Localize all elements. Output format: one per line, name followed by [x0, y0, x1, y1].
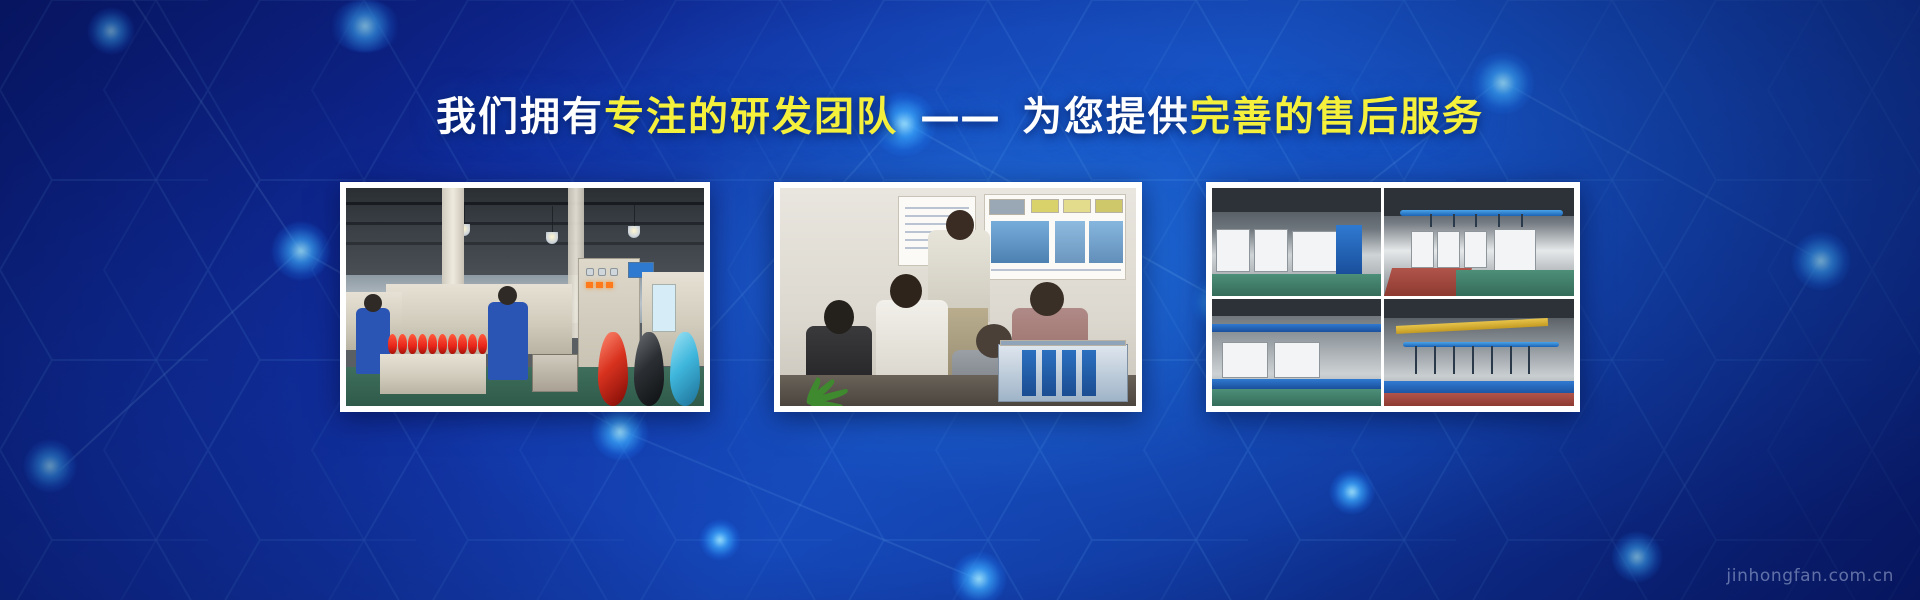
blue-machine-panel — [1336, 225, 1362, 274]
roof-truss — [1384, 299, 1574, 318]
red-product — [448, 334, 457, 354]
red-product — [408, 334, 417, 354]
coating-booth — [1437, 231, 1460, 268]
attendee-head — [1030, 282, 1064, 316]
ceiling-lamp — [546, 232, 558, 244]
lamp-wire — [464, 204, 465, 226]
lamp-wire — [552, 206, 553, 234]
red-product — [468, 334, 477, 354]
promo-banner: 我们拥有专注的研发团队 —— 为您提供完善的售后服务 — [0, 0, 1920, 600]
worker-head — [498, 286, 517, 305]
chart-line — [991, 269, 1121, 271]
coating-booth — [1411, 231, 1434, 268]
composite-tile-top-left — [1212, 188, 1381, 296]
hanger-rod — [1430, 214, 1432, 227]
indicator-light — [606, 282, 613, 288]
headline-segment-1: 我们拥有 — [436, 94, 604, 140]
machine-diagram — [1089, 221, 1123, 263]
roof-truss — [346, 242, 704, 245]
production-line-photo[interactable] — [340, 182, 710, 412]
conveyor-unit — [1274, 342, 1320, 379]
glass-vase-blue — [670, 332, 700, 406]
glass-vase-red — [598, 332, 628, 406]
roof-beam — [1212, 188, 1381, 212]
production-line-image — [346, 188, 704, 406]
chart-line — [905, 207, 969, 209]
red-product — [428, 334, 437, 354]
hanging-line — [1403, 342, 1559, 347]
equipment-cabinet — [1216, 229, 1250, 272]
door-window — [652, 284, 676, 332]
wall-chart — [984, 194, 1126, 280]
chart-thumb — [1063, 199, 1091, 213]
workshop-floor — [1212, 274, 1381, 296]
indicator-light — [586, 282, 593, 288]
red-floor — [1384, 393, 1574, 406]
composite-tile-bottom-right — [1384, 299, 1574, 407]
coating-booth — [1464, 231, 1487, 268]
hanger-rod — [1475, 214, 1477, 227]
indicator-lights — [586, 282, 613, 288]
conveyor-unit — [1222, 342, 1268, 379]
workshop-composite-photo[interactable] — [1206, 182, 1580, 412]
control-buttons — [586, 268, 618, 276]
workshop-composite-image — [1212, 188, 1574, 406]
machine-model-blue — [1022, 350, 1036, 396]
chart-thumb — [989, 199, 1025, 215]
glass-vase-overlay — [598, 332, 700, 406]
attendee-head — [824, 300, 854, 334]
work-bench — [380, 354, 486, 394]
hanger-hook — [1472, 346, 1474, 374]
page-title: 我们拥有专注的研发团队 —— 为您提供完善的售后服务 — [0, 84, 1920, 142]
hanger-hook — [1453, 346, 1455, 374]
machine-model-blue — [1082, 350, 1096, 396]
chart-thumb — [1031, 199, 1059, 213]
equipment-cabinet — [1254, 229, 1288, 272]
machine-diagram — [1055, 221, 1085, 263]
roof-truss — [346, 202, 704, 205]
machine-top-rail — [1000, 340, 1126, 346]
hanger-hook — [1510, 346, 1512, 374]
crane-beam — [1396, 318, 1548, 334]
red-product — [458, 334, 467, 354]
hanger-hook — [1528, 346, 1530, 374]
presenter-head — [946, 210, 974, 240]
green-floor — [1456, 270, 1574, 296]
red-product — [418, 334, 427, 354]
composite-tile-bottom-left — [1212, 299, 1381, 407]
red-product — [398, 334, 407, 354]
hanger-hook — [1415, 346, 1417, 374]
rnd-meeting-image — [780, 188, 1136, 406]
red-product — [388, 334, 397, 354]
worker-figure — [488, 302, 528, 380]
conveyor-rail — [1212, 324, 1381, 332]
headline-segment-2: 专注的研发团队 — [604, 94, 898, 140]
composite-tile-top-right — [1384, 188, 1574, 296]
hanger-rod — [1498, 214, 1500, 227]
chart-thumb — [1095, 199, 1123, 213]
glass-vase-black — [634, 332, 664, 406]
hanger-hook — [1491, 346, 1493, 374]
potted-plant — [784, 358, 854, 406]
blue-frame — [1212, 379, 1381, 389]
red-product — [438, 334, 447, 354]
headline-segment-4: 完善的售后服务 — [1190, 94, 1484, 140]
site-watermark: jinhongfan.com.cn — [1726, 566, 1894, 586]
photo-panel-row — [0, 182, 1920, 412]
roof-truss — [346, 222, 704, 225]
red-product-row — [388, 334, 487, 354]
roof-beam — [1212, 299, 1381, 316]
control-button — [598, 268, 606, 276]
hanger-hook — [1434, 346, 1436, 374]
plastic-crate — [532, 354, 578, 392]
indicator-light — [596, 282, 603, 288]
machine-model-blue — [1042, 350, 1056, 396]
hanger-rod — [1453, 214, 1455, 227]
control-button — [610, 268, 618, 276]
machine-model-blue — [1062, 350, 1076, 396]
hanger-rod — [1521, 214, 1523, 227]
lamp-wire — [634, 204, 635, 228]
rnd-meeting-photo[interactable] — [774, 182, 1142, 412]
control-button — [586, 268, 594, 276]
workshop-floor — [1212, 389, 1381, 406]
attendee-head — [890, 274, 922, 308]
composite-grid — [1212, 188, 1574, 406]
red-product — [478, 334, 487, 354]
headline-dash: —— — [914, 94, 1006, 140]
machine-diagram — [991, 221, 1049, 263]
ceiling-lamp — [628, 226, 640, 238]
coating-booth — [1494, 229, 1536, 272]
headline-segment-3: 为您提供 — [1022, 94, 1190, 140]
overhead-pipe — [1400, 210, 1563, 216]
worker-head — [364, 294, 382, 312]
